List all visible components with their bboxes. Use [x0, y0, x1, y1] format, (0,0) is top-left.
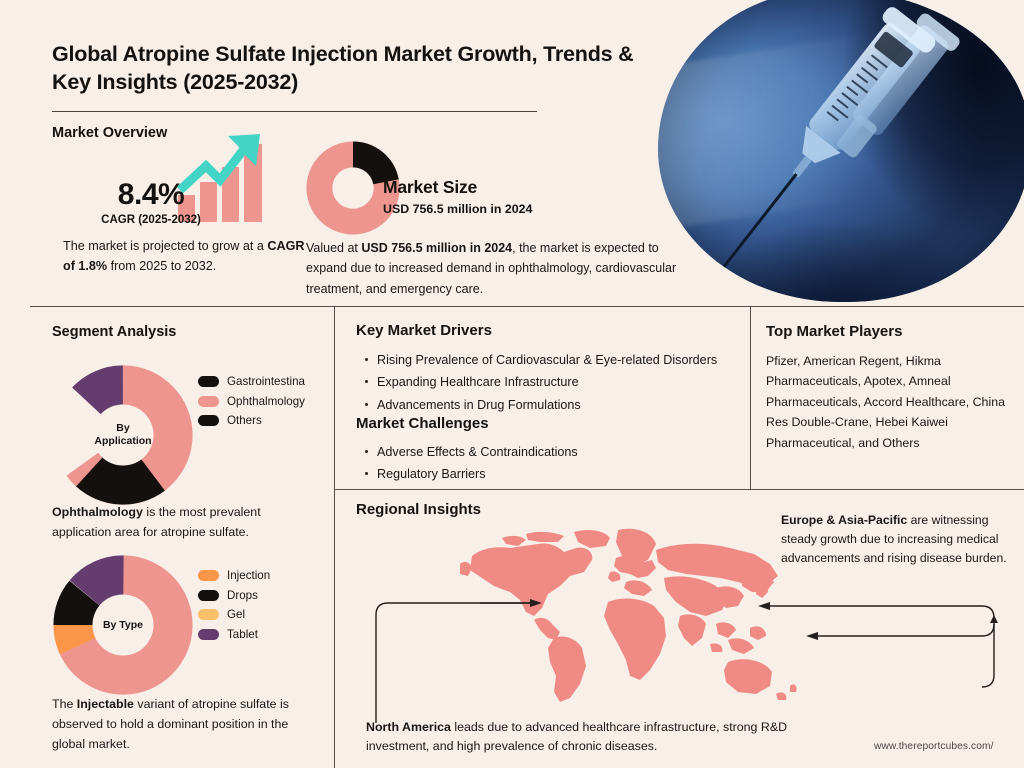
market-size-title: Market Size	[383, 177, 477, 198]
market-size-subtitle: USD 756.5 million in 2024	[383, 202, 532, 216]
legend-swatch-icon	[198, 415, 219, 426]
list-item: Rising Prevalence of Cardiovascular & Ey…	[362, 350, 752, 370]
legend-label: Tablet	[227, 629, 258, 641]
legend-label: Gastrointestina	[227, 376, 305, 388]
top-market-players-body: Pfizer, American Regent, Hikma Pharmaceu…	[766, 351, 1012, 453]
legend-swatch-icon	[198, 396, 219, 407]
legend-item-gel: Gel	[198, 609, 270, 621]
syringe-illustration	[658, 0, 1024, 302]
market-challenges-label: Market Challenges	[356, 415, 489, 432]
segment-note-2-prefix: The	[52, 697, 77, 711]
by-type-chart: By Type	[52, 554, 194, 696]
overview-body-prefix: The market is projected to grow at a	[63, 239, 267, 253]
legend-item-others: Others	[198, 415, 305, 427]
ms-body-prefix: Valued at	[306, 241, 361, 255]
legend-label: Drops	[227, 590, 258, 602]
cagr-value: 8.4%	[86, 178, 216, 212]
legend-label: Injection	[227, 570, 270, 582]
list-item: Expanding Healthcare Infrastructure	[362, 372, 752, 392]
by-application-legend: Gastrointestina Ophthalmology Others	[198, 376, 305, 435]
cagr-caption: CAGR (2025-2032)	[62, 214, 240, 226]
legend-item-drops: Drops	[198, 590, 270, 602]
by-application-chart: ByApplication	[52, 364, 194, 506]
overview-body-suffix: from 2025 to 2032.	[107, 259, 216, 273]
legend-item-tablet: Tablet	[198, 629, 270, 641]
by-application-donut-svg	[52, 364, 194, 506]
legend-swatch-icon	[198, 629, 219, 640]
list-item: Adverse Effects & Contraindications	[362, 442, 752, 462]
divider-horizontal-main	[30, 306, 1024, 307]
regional-eu-bold: Europe & Asia-Pacific	[781, 513, 907, 527]
segment-note-application: Ophthalmology is the most prevalent appl…	[52, 503, 320, 543]
legend-label: Others	[227, 415, 262, 427]
regional-note-europe-asia: Europe & Asia-Pacific are witnessing ste…	[781, 511, 1019, 568]
market-challenges-list: Adverse Effects & Contraindications Regu…	[362, 442, 752, 487]
syringe-photo	[658, 0, 1024, 302]
website-url[interactable]: www.thereportcubes.com/	[874, 741, 994, 752]
key-market-drivers-list: Rising Prevalence of Cardiovascular & Ey…	[362, 350, 752, 417]
legend-label: Gel	[227, 609, 245, 621]
legend-item-gastrointestina: Gastrointestina	[198, 376, 305, 388]
page-title: Global Atropine Sulfate Injection Market…	[52, 40, 652, 97]
segment-note-type: The Injectable variant of atropine sulfa…	[52, 694, 324, 754]
legend-swatch-icon	[198, 570, 219, 581]
by-type-donut-svg	[52, 554, 194, 696]
top-market-players-label: Top Market Players	[766, 323, 902, 340]
segment-note-2-bold: Injectable	[77, 697, 134, 711]
regional-note-north-america: North America leads due to advanced heal…	[366, 718, 814, 756]
key-market-drivers-label: Key Market Drivers	[356, 322, 492, 339]
regional-na-bold: North America	[366, 720, 451, 734]
legend-item-ophthalmology: Ophthalmology	[198, 396, 305, 408]
market-overview-label: Market Overview	[52, 125, 167, 141]
infographic-page: Global Atropine Sulfate Injection Market…	[0, 0, 1024, 768]
overview-body: The market is projected to grow at a CAG…	[63, 236, 313, 277]
legend-swatch-icon	[198, 590, 219, 601]
legend-label: Ophthalmology	[227, 396, 305, 408]
by-type-legend: Injection Drops Gel Tablet	[198, 570, 270, 648]
legend-item-injection: Injection	[198, 570, 270, 582]
legend-swatch-icon	[198, 609, 219, 620]
segment-analysis-label: Segment Analysis	[52, 324, 176, 340]
market-size-body: Valued at USD 756.5 million in 2024, the…	[306, 238, 678, 299]
ms-body-bold: USD 756.5 million in 2024	[361, 241, 512, 255]
list-item: Regulatory Barriers	[362, 464, 752, 484]
legend-swatch-icon	[198, 376, 219, 387]
segment-note-1-bold: Ophthalmology	[52, 505, 143, 519]
header-divider	[52, 111, 537, 112]
list-item: Advancements in Drug Formulations	[362, 395, 752, 415]
